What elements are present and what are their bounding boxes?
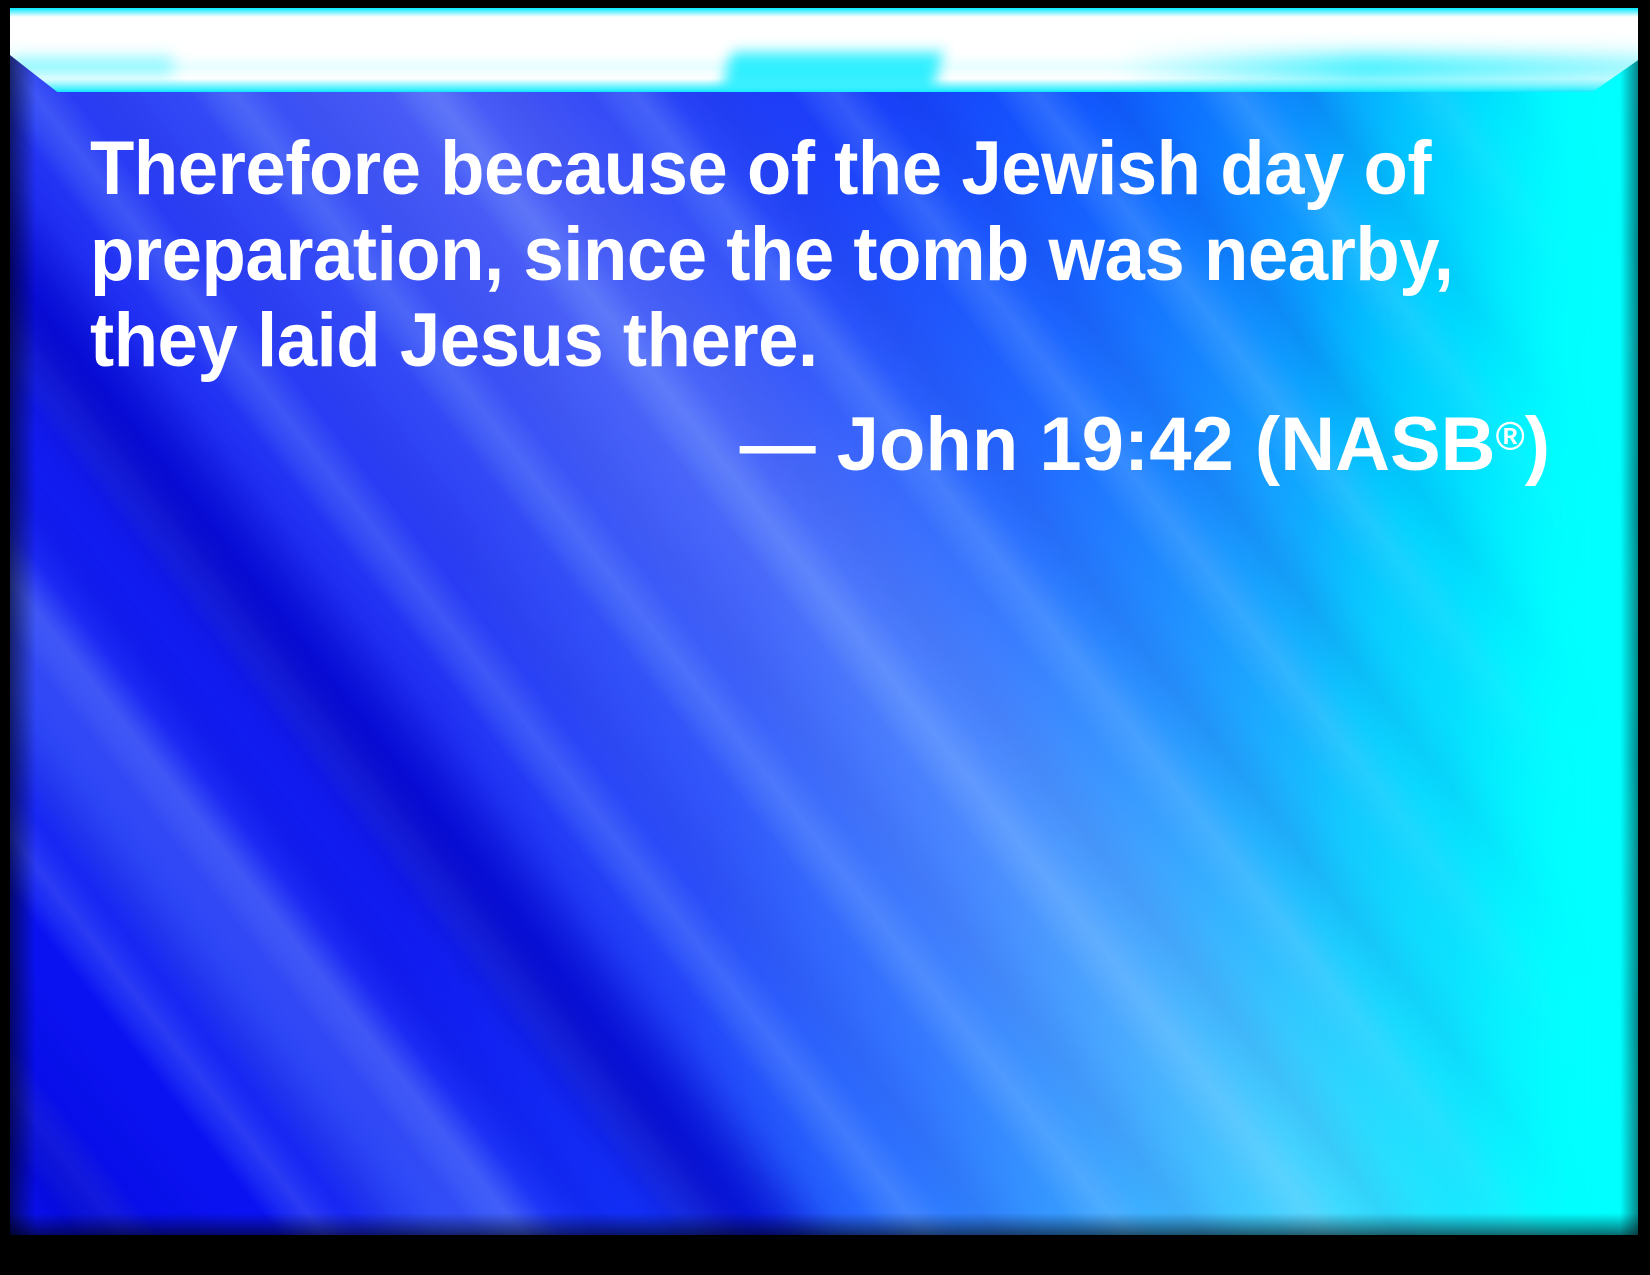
scripture-slide: Therefore because of the Jewish day of p…: [0, 0, 1650, 1275]
banner-cyan-wash-right: [1117, 54, 1638, 83]
verse-line-3: they laid Jesus there.: [90, 298, 1494, 384]
verse-text-block: Therefore because of the Jewish day of p…: [90, 126, 1560, 488]
attribution-em-dash: —: [740, 402, 816, 487]
verse-line-2: preparation, since the tomb was nearby,: [90, 212, 1494, 298]
banner-cyan-wash-center: [722, 52, 943, 92]
top-banner: [10, 8, 1638, 92]
attribution-translation: NASB: [1280, 402, 1495, 487]
verse-line-1: Therefore because of the Jewish day of: [90, 126, 1494, 212]
attribution-open-paren: (: [1255, 402, 1280, 487]
banner-top-cap: [10, 8, 1638, 17]
attribution-reference: 19:42: [1039, 402, 1233, 487]
verse-attribution: — John 19:42 (NASB®): [90, 402, 1560, 488]
attribution-book: John: [837, 402, 1019, 487]
registered-trademark-icon: ®: [1496, 414, 1525, 458]
slide-canvas: Therefore because of the Jewish day of p…: [10, 8, 1638, 1235]
banner-cyan-wash-left: [10, 57, 173, 75]
attribution-close-paren: ): [1525, 402, 1550, 487]
